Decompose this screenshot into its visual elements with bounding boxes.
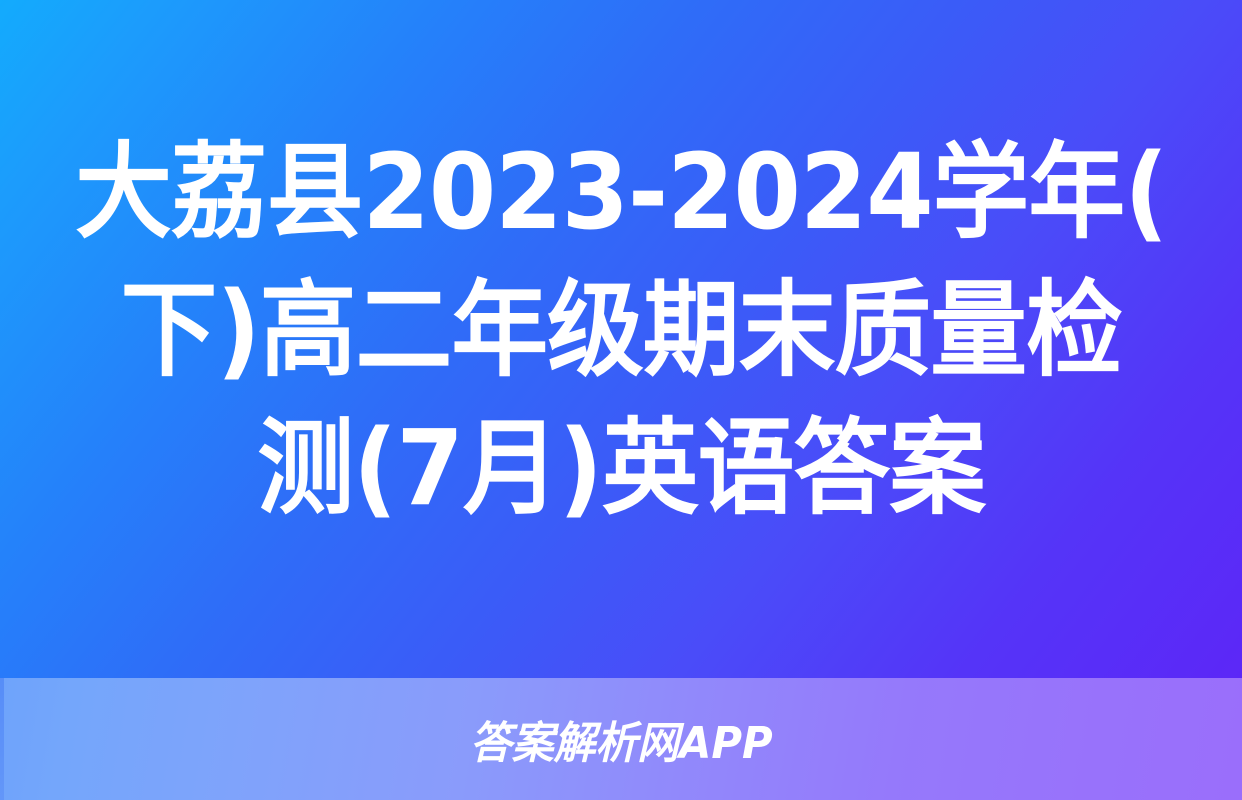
watermark-area: 答案解析网APP	[0, 678, 1242, 800]
title-line-2: 下)高二年级期末质量检	[120, 261, 1121, 399]
watermark-text: 答案解析网APP	[470, 707, 773, 771]
title-block: 大荔县2023-2024学年( 下)高二年级期末质量检 测(7月)英语答案	[0, 0, 1242, 678]
title-line-3: 测(7月)英语答案	[257, 399, 985, 537]
poster-image: 大荔县2023-2024学年( 下)高二年级期末质量检 测(7月)英语答案 答案…	[0, 0, 1242, 800]
title-line-1: 大荔县2023-2024学年(	[75, 123, 1167, 261]
